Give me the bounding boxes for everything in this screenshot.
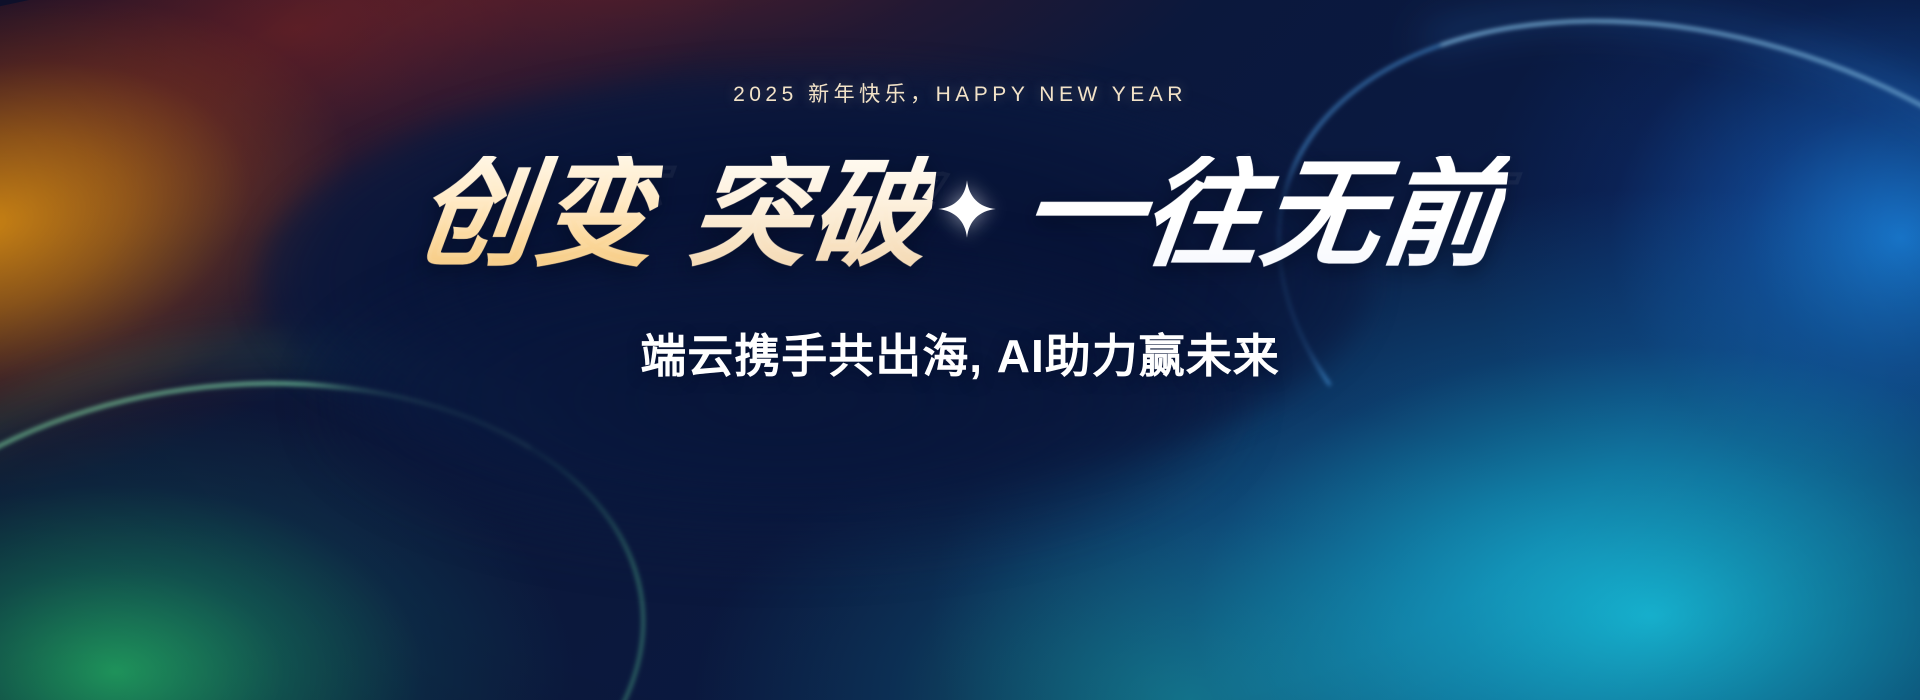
headline-segment-tupo: 突破 [684,156,939,274]
banner-tagline: 2025 新年快乐，HAPPY NEW YEAR [733,78,1187,108]
banner-content: 2025 新年快乐，HAPPY NEW YEAR 创变 突破 一往无前 端云携手… [0,0,1920,700]
headline-segment-yiwangwuqian: 一往无前 [1016,156,1511,274]
new-year-banner: 2025 新年快乐，HAPPY NEW YEAR 创变 突破 一往无前 端云携手… [0,0,1920,700]
banner-subtitle: 端云携手共出海, AI助力赢未来 [640,320,1280,386]
headline-segment-chuangbian: 创变 [410,156,665,274]
banner-headline: 创变 突破 一往无前 [410,156,1511,274]
sparkle-star-icon [937,157,997,261]
